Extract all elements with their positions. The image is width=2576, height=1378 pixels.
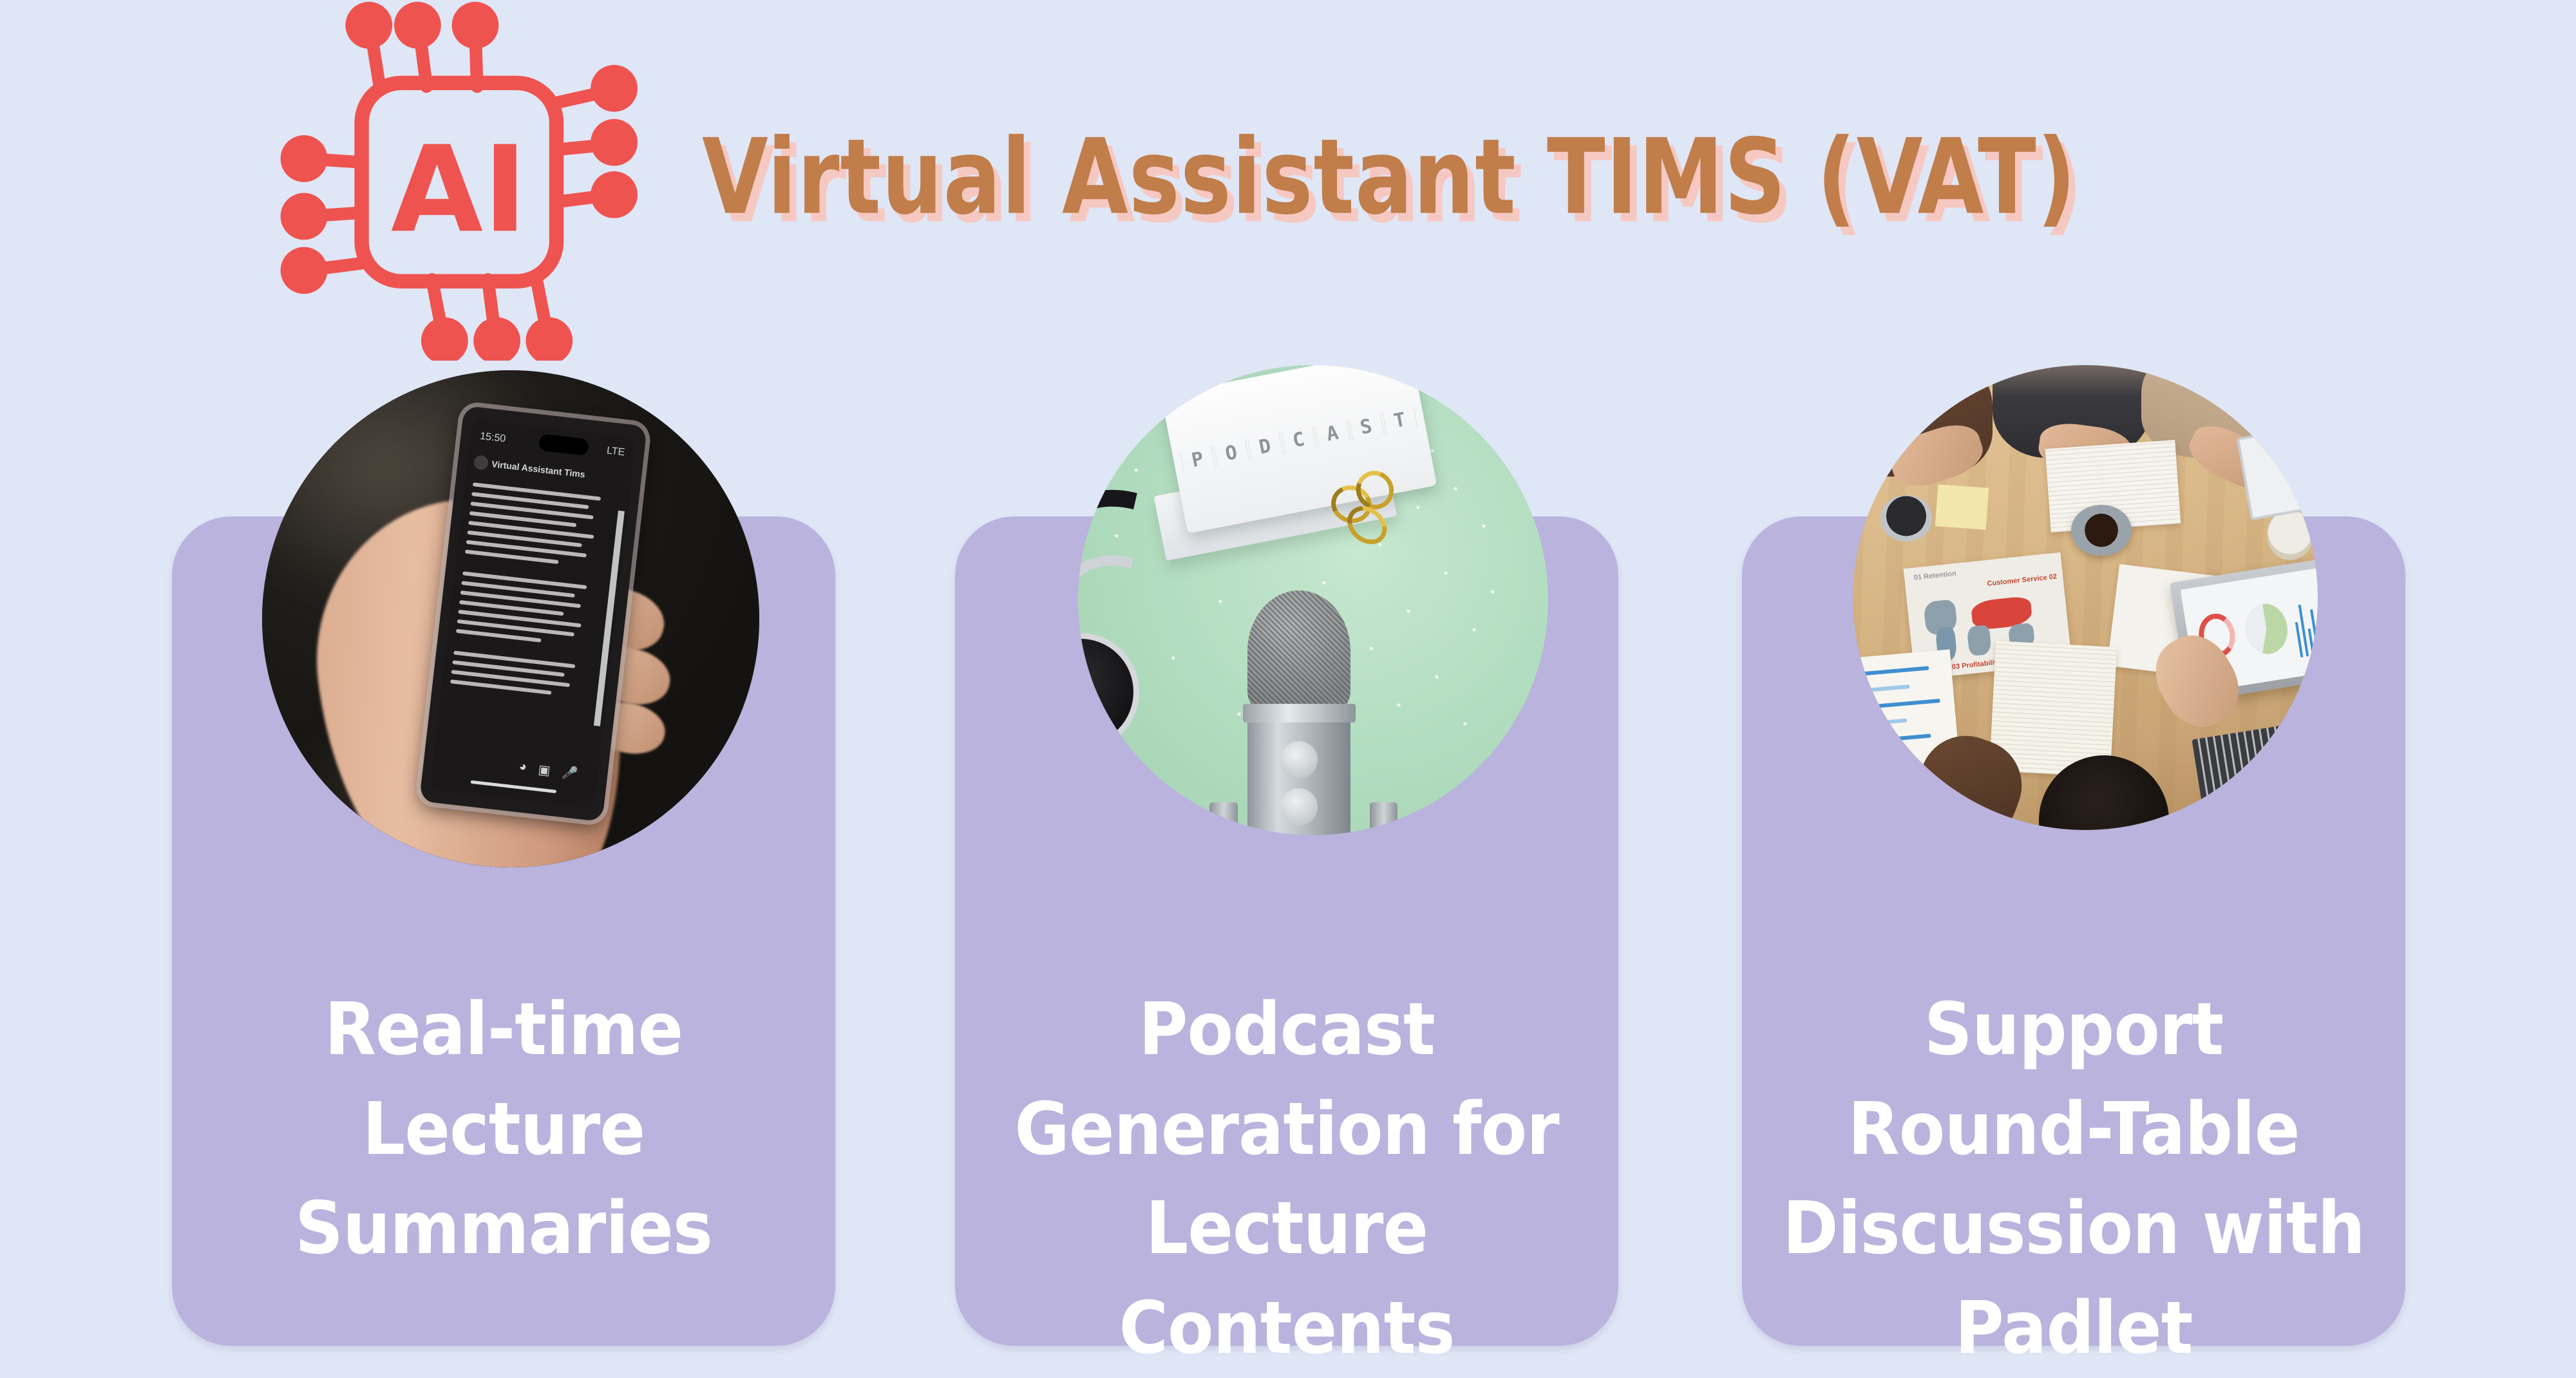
map-label-profitability: 03 Profitability — [1951, 659, 2001, 672]
podcast-microphone-photo: P O D C A S T — [1078, 365, 1548, 835]
sign-letter: T — [1382, 406, 1418, 435]
ai-logo-text: AI — [391, 120, 527, 259]
round-table-meeting-photo: 01 Retention Customer Service 02 03 Prof… — [1853, 365, 2318, 830]
coffee-cup — [2267, 509, 2313, 560]
gold-ribbon — [1323, 464, 1407, 548]
headphones-icon: ◕ — [518, 760, 527, 777]
header: AI Virtual Assistant TIMS (VAT) — [0, 0, 2576, 361]
camera-icon: ▣ — [537, 762, 551, 779]
coffee-mug — [2071, 505, 2132, 556]
map-label-retention: 01 Retention — [1913, 570, 1956, 582]
sign-letter: O — [1213, 439, 1249, 467]
map-label-customer-service: Customer Service 02 — [1987, 573, 2058, 588]
tablet — [2237, 424, 2318, 521]
page-title: Virtual Assistant TIMS (VAT) — [702, 117, 2076, 238]
sign-letter: C — [1281, 426, 1317, 455]
chat-toolbar: ◕ ▣ 🎤 — [518, 760, 578, 782]
chat-title: Virtual Assistant Tims — [491, 459, 585, 480]
coffee-cup — [1880, 495, 1931, 542]
hand-holding-phone-photo: 15:50 LTE Virtual Assistant Tims — [262, 370, 759, 867]
feature-card-label: Real-time Lecture Summaries — [195, 980, 812, 1279]
feature-card-label: Support Round-Table Discussion with Padl… — [1765, 980, 2382, 1378]
sign-letter: A — [1314, 420, 1350, 448]
chat-avatar — [473, 455, 488, 471]
phone-status-time: 15:50 — [479, 431, 506, 445]
summary-text-lines — [443, 483, 607, 762]
ai-chip-icon: AI — [277, 0, 638, 361]
sign-letter: P — [1180, 446, 1216, 474]
microphone-icon: 🎤 — [561, 765, 579, 783]
feature-card-label: Podcast Generation for Lecture Contents — [978, 980, 1595, 1378]
sign-letter: D — [1247, 433, 1283, 461]
sign-letter: S — [1349, 413, 1385, 441]
phone-status-network: LTE — [606, 445, 625, 458]
